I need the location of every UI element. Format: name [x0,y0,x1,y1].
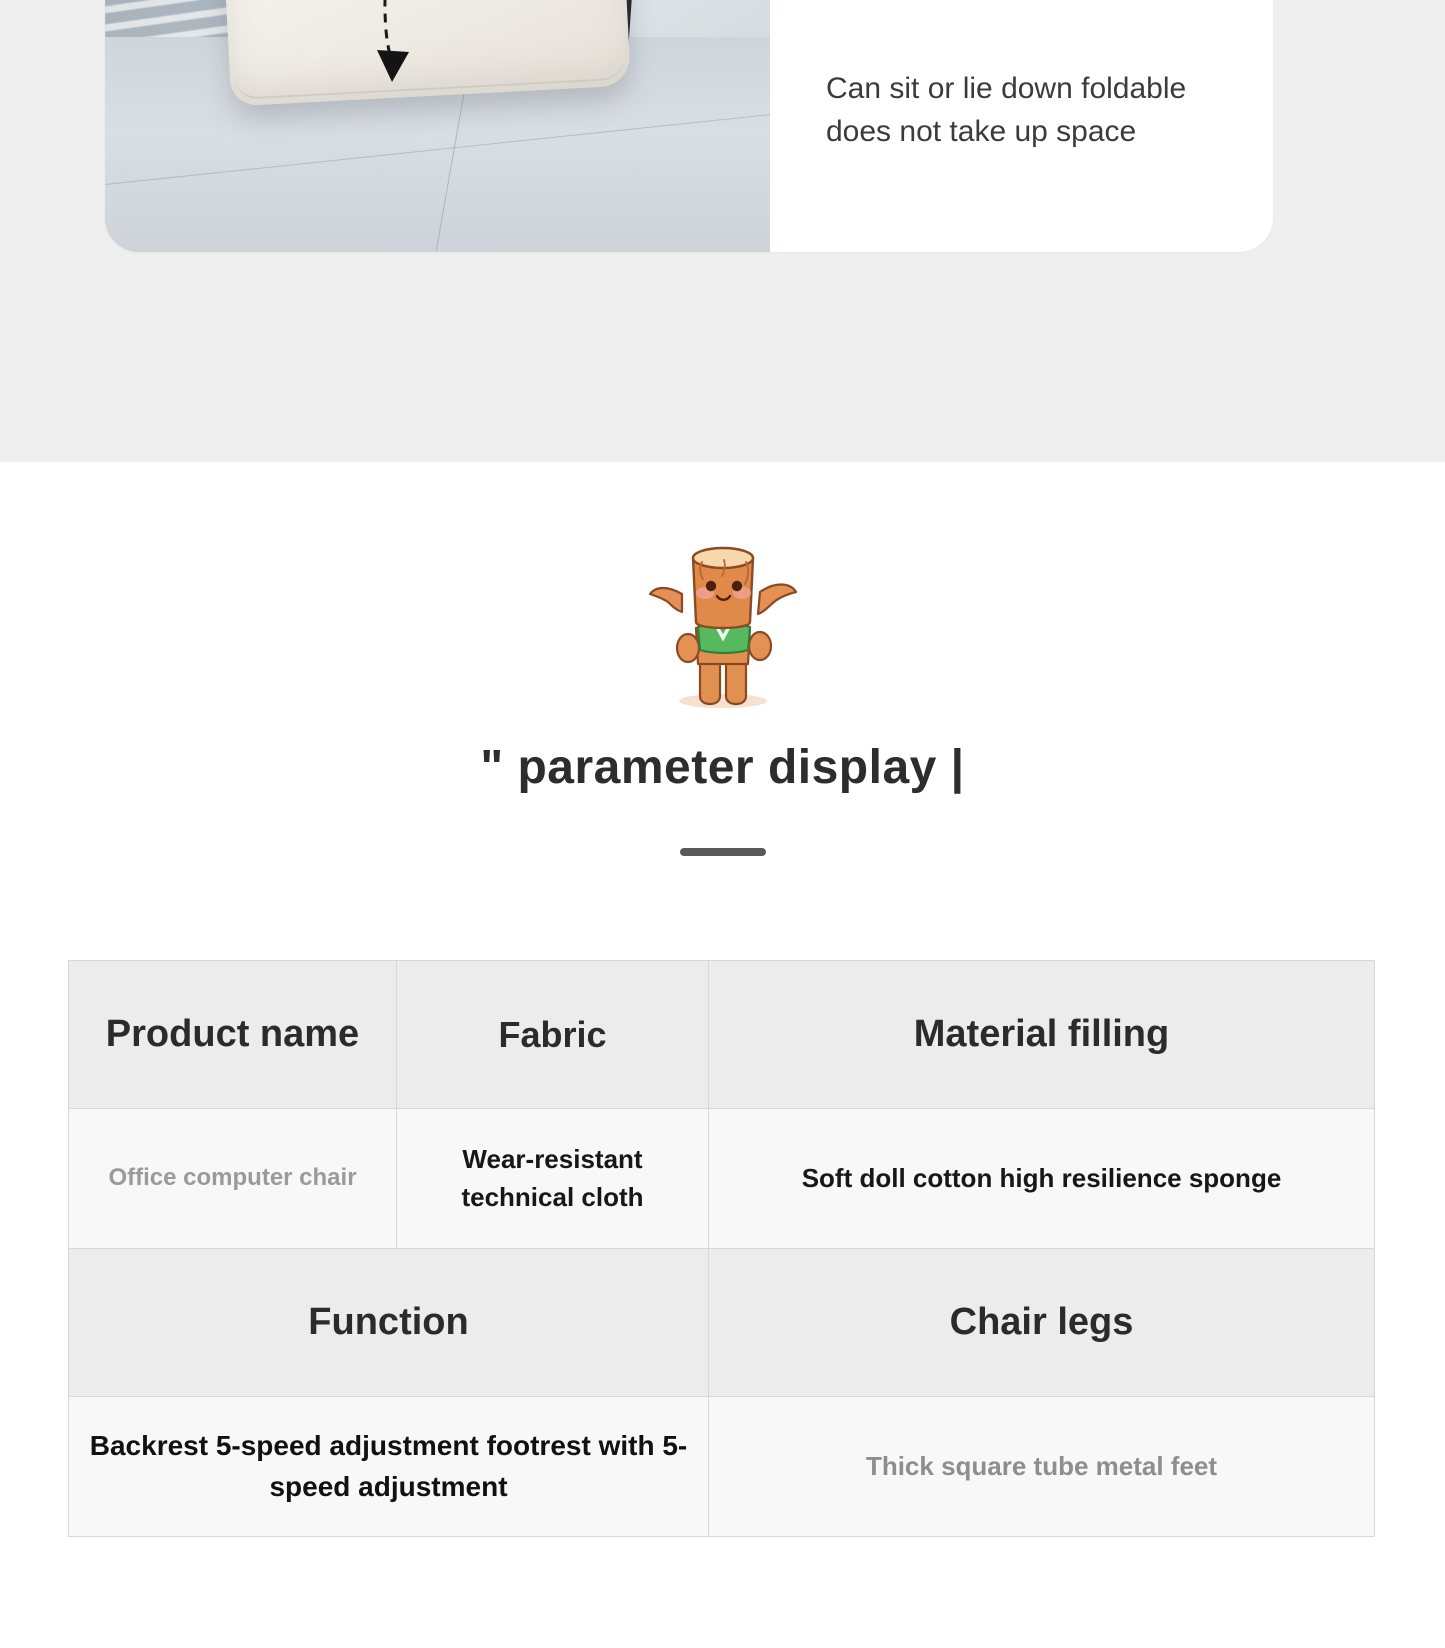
feature-card: Can sit or lie down foldable does not ta… [105,0,1273,252]
table-row: Product name Fabric Material filling [69,961,1375,1109]
table-row: Function Chair legs [69,1249,1375,1397]
mascot-container [0,530,1445,710]
feature-section: Can sit or lie down foldable does not ta… [0,0,1445,462]
value-chair-legs: Thick square tube metal feet [709,1397,1375,1537]
page-title: " parameter display | [0,740,1445,795]
header-function: Function [69,1249,709,1397]
header-product-name: Product name [69,961,397,1109]
feature-caption-line-2: does not take up space [826,111,1186,154]
table-row: Office computer chair Wear-resistant tec… [69,1109,1375,1249]
value-function: Backrest 5-speed adjustment footrest wit… [69,1397,709,1537]
feature-caption: Can sit or lie down foldable does not ta… [770,0,1273,252]
table-row: Backrest 5-speed adjustment footrest wit… [69,1397,1375,1537]
parameter-table: Product name Fabric Material filling Off… [68,960,1375,1537]
tree-stump-mascot-icon [638,530,808,710]
value-fabric: Wear-resistant technical cloth [397,1109,709,1249]
header-material-filling: Material filling [709,961,1375,1109]
header-fabric: Fabric [397,961,709,1109]
folded-chair-photo [105,0,770,252]
parameter-display-section: " parameter display | Product name Fabri… [0,462,1445,1648]
product-detail-page: Can sit or lie down foldable does not ta… [0,0,1445,1648]
feature-caption-line-1: Can sit or lie down foldable [826,68,1186,111]
value-product-name: Office computer chair [69,1109,397,1249]
value-material-filling: Soft doll cotton high resilience sponge [709,1109,1375,1249]
fold-direction-arrow-icon [295,0,555,252]
header-chair-legs: Chair legs [709,1249,1375,1397]
title-divider [680,848,766,856]
